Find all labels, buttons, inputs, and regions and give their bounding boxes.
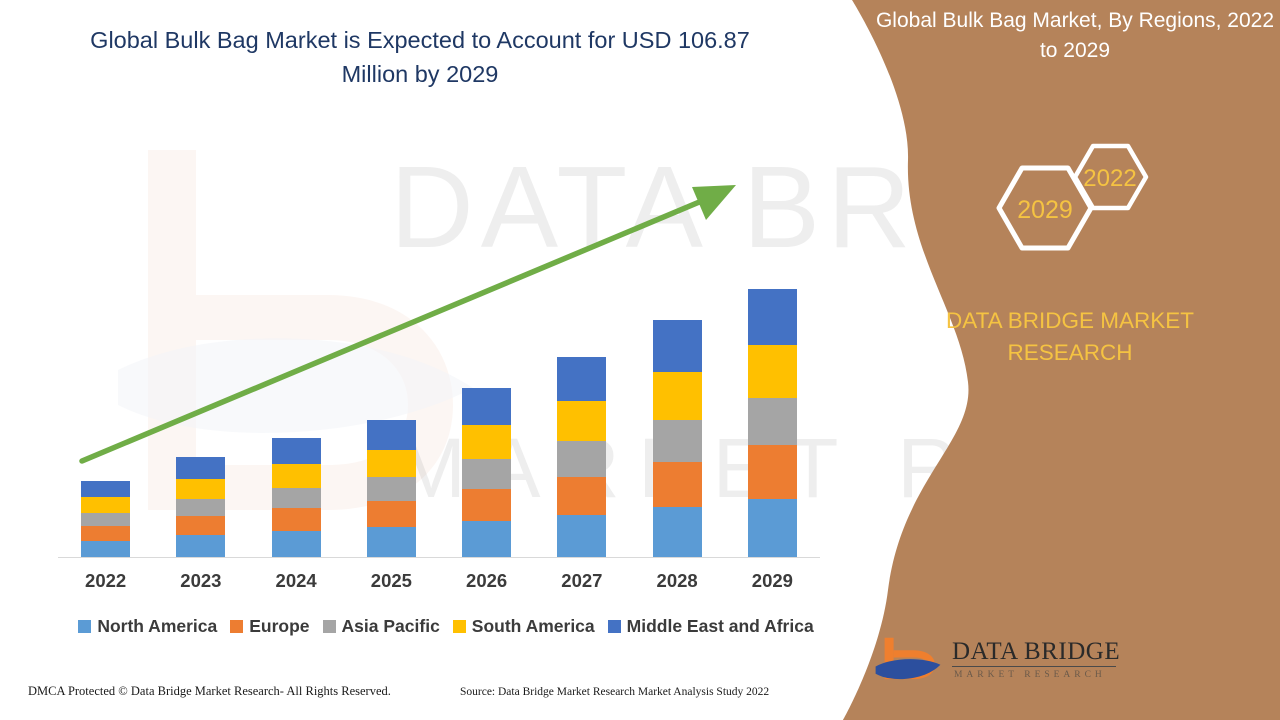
bar-segment xyxy=(653,462,702,507)
x-axis-label: 2024 xyxy=(272,570,321,592)
bar-segment xyxy=(81,497,130,513)
bar-segment xyxy=(557,401,606,441)
bar-2022 xyxy=(81,481,130,557)
bar-2029 xyxy=(748,289,797,557)
bar-2023 xyxy=(176,457,225,557)
bar-segment xyxy=(557,477,606,515)
legend-swatch-icon xyxy=(230,620,243,633)
bar-segment xyxy=(367,420,416,450)
legend-swatch-icon xyxy=(453,620,466,633)
bar-segment xyxy=(272,438,321,464)
bar-segment xyxy=(367,477,416,501)
hexagon-2022-label: 2022 xyxy=(1083,165,1136,192)
bar-segment xyxy=(748,499,797,557)
bar-segment xyxy=(462,425,511,459)
bar-segment xyxy=(81,513,130,526)
infographic-canvas: DATA BRIDGE MARKET RESEARCH Global Bulk … xyxy=(0,0,1280,720)
bar-segment xyxy=(748,345,797,398)
bar-segment xyxy=(462,489,511,521)
bar-segment xyxy=(748,445,797,499)
x-axis-labels: 20222023202420252026202720282029 xyxy=(58,568,820,594)
bar-segment xyxy=(557,357,606,401)
bar-segment xyxy=(557,441,606,477)
bar-segment xyxy=(462,388,511,425)
bar-2027 xyxy=(557,357,606,557)
x-axis-line xyxy=(58,557,820,558)
legend-label: North America xyxy=(97,616,217,637)
legend-swatch-icon xyxy=(323,620,336,633)
legend-swatch-icon xyxy=(78,620,91,633)
x-axis-label: 2029 xyxy=(748,570,797,592)
dbmr-logo-divider xyxy=(952,666,1116,667)
dbmr-logo-wordmark: DATA BRIDGE xyxy=(952,638,1120,666)
bar-segment xyxy=(462,521,511,557)
brand-line-2: RESEARCH xyxy=(900,337,1240,369)
hexagon-badges: 2022 2029 xyxy=(970,140,1200,280)
legend-item[interactable]: North America xyxy=(78,616,217,637)
x-axis-label: 2023 xyxy=(176,570,225,592)
bar-2024 xyxy=(272,438,321,557)
bar-segment xyxy=(748,398,797,445)
stacked-bar-chart xyxy=(0,140,840,560)
dbmr-logo-tagline: MARKET RESEARCH xyxy=(954,670,1106,680)
x-axis-label: 2027 xyxy=(557,570,606,592)
bar-segment xyxy=(272,508,321,531)
bar-segment xyxy=(748,289,797,345)
legend-label: Europe xyxy=(249,616,309,637)
x-axis-label: 2028 xyxy=(653,570,702,592)
bar-segment xyxy=(653,507,702,557)
bar-segment xyxy=(653,320,702,372)
legend-item[interactable]: South America xyxy=(453,616,595,637)
source-notice: Source: Data Bridge Market Research Mark… xyxy=(460,686,769,698)
legend-label: Asia Pacific xyxy=(342,616,440,637)
bar-segment xyxy=(81,481,130,497)
hexagon-2029-label: 2029 xyxy=(1017,196,1073,224)
x-axis-label: 2022 xyxy=(81,570,130,592)
bar-segment xyxy=(653,420,702,462)
bar-2028 xyxy=(653,320,702,557)
legend-item[interactable]: Europe xyxy=(230,616,309,637)
dbmr-logo-mark-icon xyxy=(872,634,944,690)
bar-segment xyxy=(81,526,130,541)
bar-segment xyxy=(176,516,225,535)
copyright-notice: DMCA Protected © Data Bridge Market Rese… xyxy=(28,684,391,699)
bar-segment xyxy=(176,457,225,479)
brand-line-1: DATA BRIDGE MARKET xyxy=(900,305,1240,337)
bar-segment xyxy=(272,464,321,488)
bar-2026 xyxy=(462,388,511,557)
legend-item[interactable]: Asia Pacific xyxy=(323,616,440,637)
bar-segment xyxy=(176,479,225,499)
bar-segment xyxy=(462,459,511,489)
bar-segment xyxy=(176,499,225,516)
panel-title: Global Bulk Bag Market, By Regions, 2022… xyxy=(870,6,1280,66)
chart-legend: North AmericaEuropeAsia PacificSouth Ame… xyxy=(56,616,836,637)
bar-segment xyxy=(367,450,416,477)
bar-2025 xyxy=(367,420,416,557)
bar-group xyxy=(58,140,820,557)
right-panel: Global Bulk Bag Market, By Regions, 2022… xyxy=(860,0,1280,720)
legend-item[interactable]: Middle East and Africa xyxy=(608,616,814,637)
legend-swatch-icon xyxy=(608,620,621,633)
bar-segment xyxy=(653,372,702,420)
bar-segment xyxy=(367,501,416,527)
dbmr-logo: DATA BRIDGE MARKET RESEARCH xyxy=(872,630,1132,710)
bar-segment xyxy=(367,527,416,557)
bar-segment xyxy=(557,515,606,557)
x-axis-label: 2026 xyxy=(462,570,511,592)
bar-segment xyxy=(272,488,321,508)
bar-segment xyxy=(81,541,130,557)
x-axis-label: 2025 xyxy=(367,570,416,592)
legend-label: Middle East and Africa xyxy=(627,616,814,637)
bar-segment xyxy=(176,535,225,557)
page-title: Global Bulk Bag Market is Expected to Ac… xyxy=(60,24,780,91)
brand-name: DATA BRIDGE MARKET RESEARCH xyxy=(860,305,1280,369)
legend-label: South America xyxy=(472,616,595,637)
bar-segment xyxy=(272,531,321,557)
